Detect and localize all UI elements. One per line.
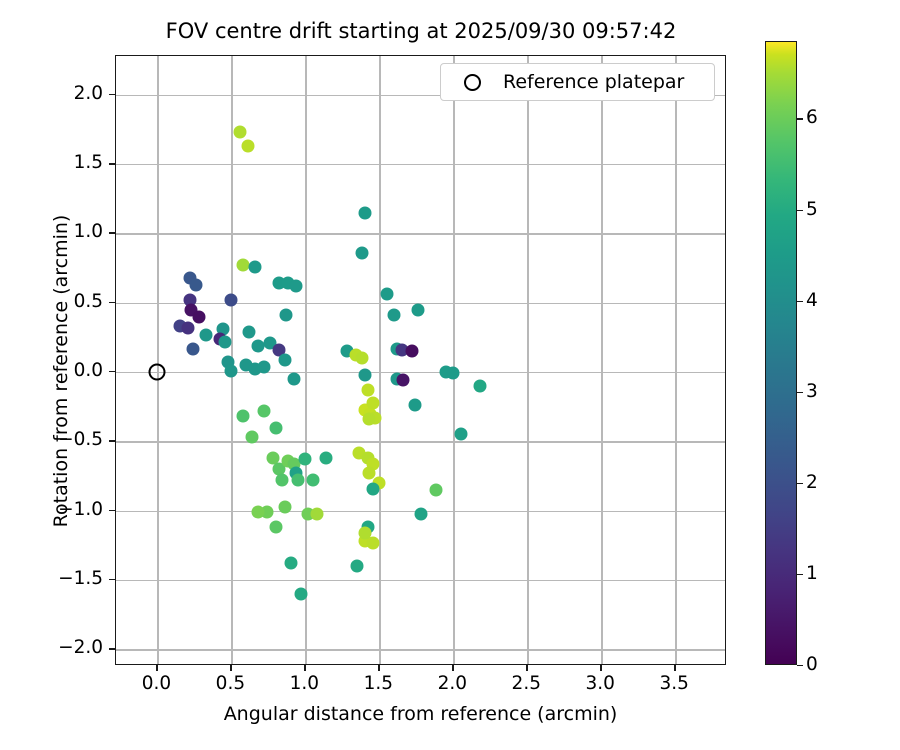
scatter-point[interactable]: [189, 278, 202, 291]
y-axis-tick: [109, 579, 115, 580]
scatter-point[interactable]: [252, 506, 265, 519]
legend-marker-reference-platepar: [441, 74, 503, 91]
gridline-horizontal: [116, 649, 725, 650]
x-axis-tick-label: 0.0: [121, 673, 191, 695]
x-axis-tick-label: 0.5: [195, 673, 265, 695]
colorbar-tick-label: 1: [806, 563, 818, 585]
colorbar-tick-label: 5: [806, 199, 818, 221]
colorbar-tick-label: 2: [806, 472, 818, 494]
x-axis-tick: [452, 665, 453, 671]
open-circle-icon: [464, 74, 481, 91]
scatter-point[interactable]: [246, 431, 259, 444]
scatter-point[interactable]: [397, 374, 410, 387]
scatter-point[interactable]: [414, 507, 427, 520]
scatter-point[interactable]: [358, 526, 371, 539]
gridline-horizontal: [116, 233, 725, 234]
scatter-point[interactable]: [278, 353, 291, 366]
x-axis-tick-label: 1.0: [269, 673, 339, 695]
scatter-point[interactable]: [225, 294, 238, 307]
y-axis-tick-label: 2.0: [0, 83, 103, 105]
x-axis-tick: [304, 665, 305, 671]
gridline-vertical: [379, 56, 380, 664]
scatter-point[interactable]: [280, 309, 293, 322]
scatter-point[interactable]: [355, 352, 368, 365]
y-axis-tick: [109, 94, 115, 95]
gridline-horizontal: [116, 164, 725, 165]
y-axis-tick-label: −1.5: [0, 568, 103, 590]
y-axis-label: Rotation from reference (arcmin): [50, 201, 72, 541]
gridline-vertical: [527, 56, 528, 664]
scatter-point[interactable]: [447, 367, 460, 380]
scatter-figure: FOV centre drift starting at 2025/09/30 …: [0, 0, 900, 750]
scatter-point[interactable]: [241, 140, 254, 153]
colorbar-tick: [797, 210, 803, 211]
scatter-point[interactable]: [269, 421, 282, 434]
y-axis-tick: [109, 371, 115, 372]
scatter-point[interactable]: [219, 335, 232, 348]
x-axis-tick-label: 2.5: [491, 673, 561, 695]
gridline-vertical: [305, 56, 306, 664]
scatter-point[interactable]: [200, 328, 213, 341]
reference-platepar-marker[interactable]: [149, 364, 166, 381]
scatter-point[interactable]: [358, 206, 371, 219]
scatter-point[interactable]: [306, 474, 319, 487]
colorbar-tick-label: 6: [806, 107, 818, 129]
scatter-point[interactable]: [367, 482, 380, 495]
x-axis-tick: [674, 665, 675, 671]
x-axis-tick: [600, 665, 601, 671]
scatter-point[interactable]: [473, 379, 486, 392]
y-axis-tick-label: −2.0: [0, 637, 103, 659]
gridline-horizontal: [116, 580, 725, 581]
scatter-point[interactable]: [362, 413, 375, 426]
scatter-point[interactable]: [257, 404, 270, 417]
colorbar-tick: [797, 301, 803, 302]
gridline-horizontal: [116, 441, 725, 442]
x-axis-tick: [230, 665, 231, 671]
scatter-point[interactable]: [367, 396, 380, 409]
scatter-point[interactable]: [243, 325, 256, 338]
y-axis-tick: [109, 648, 115, 649]
scatter-point[interactable]: [257, 360, 270, 373]
scatter-point[interactable]: [355, 246, 368, 259]
x-axis-label: Angular distance from reference (arcmin): [115, 703, 726, 725]
scatter-point[interactable]: [411, 303, 424, 316]
scatter-point[interactable]: [358, 368, 371, 381]
x-axis-tick: [378, 665, 379, 671]
y-axis-tick: [109, 163, 115, 164]
scatter-point[interactable]: [380, 288, 393, 301]
y-axis-tick-label: 1.5: [0, 152, 103, 174]
scatter-point[interactable]: [351, 560, 364, 573]
x-axis-tick-label: 3.0: [565, 673, 635, 695]
scatter-point[interactable]: [284, 557, 297, 570]
plot-area: [115, 55, 726, 665]
scatter-point[interactable]: [234, 126, 247, 139]
colorbar-tick: [797, 392, 803, 393]
y-axis-tick: [109, 302, 115, 303]
scatter-point[interactable]: [182, 321, 195, 334]
scatter-point[interactable]: [408, 399, 421, 412]
gridline-vertical: [675, 56, 676, 664]
x-axis-tick: [156, 665, 157, 671]
x-axis-tick-label: 2.0: [417, 673, 487, 695]
colorbar-tick: [797, 574, 803, 575]
scatter-point[interactable]: [278, 500, 291, 513]
y-axis-tick: [109, 510, 115, 511]
scatter-point[interactable]: [269, 521, 282, 534]
scatter-point[interactable]: [225, 364, 238, 377]
colorbar-tick: [797, 118, 803, 119]
gridline-vertical: [157, 56, 158, 664]
colorbar-tick: [797, 665, 803, 666]
colorbar-tick: [797, 483, 803, 484]
y-axis-tick: [109, 232, 115, 233]
scatter-point[interactable]: [237, 410, 250, 423]
gridline-vertical: [453, 56, 454, 664]
colorbar-gradient: [765, 41, 797, 665]
scatter-point[interactable]: [405, 345, 418, 358]
scatter-point[interactable]: [388, 309, 401, 322]
scatter-point[interactable]: [361, 384, 374, 397]
page-title: FOV centre drift starting at 2025/09/30 …: [115, 18, 727, 44]
legend-label-reference-platepar: Reference platepar: [503, 71, 684, 93]
x-axis-tick-label: 1.5: [343, 673, 413, 695]
scatter-point[interactable]: [311, 507, 324, 520]
colorbar-tick-label: 0: [806, 654, 818, 676]
scatter-point[interactable]: [290, 280, 303, 293]
x-axis-tick-label: 3.5: [639, 673, 709, 695]
scatter-point[interactable]: [275, 474, 288, 487]
scatter-point[interactable]: [429, 483, 442, 496]
gridline-horizontal: [116, 372, 725, 373]
scatter-point[interactable]: [249, 260, 262, 273]
scatter-point[interactable]: [367, 536, 380, 549]
scatter-point[interactable]: [320, 452, 333, 465]
colorbar-tick-label: 3: [806, 381, 818, 403]
gridline-vertical: [601, 56, 602, 664]
scatter-point[interactable]: [294, 587, 307, 600]
scatter-point[interactable]: [299, 453, 312, 466]
scatter-point[interactable]: [291, 474, 304, 487]
x-axis-tick: [526, 665, 527, 671]
scatter-point[interactable]: [192, 310, 205, 323]
legend[interactable]: Reference platepar: [440, 63, 715, 101]
scatter-point[interactable]: [186, 342, 199, 355]
y-axis-tick: [109, 440, 115, 441]
scatter-point[interactable]: [287, 373, 300, 386]
colorbar-tick-label: 4: [806, 290, 818, 312]
scatter-point[interactable]: [454, 428, 467, 441]
